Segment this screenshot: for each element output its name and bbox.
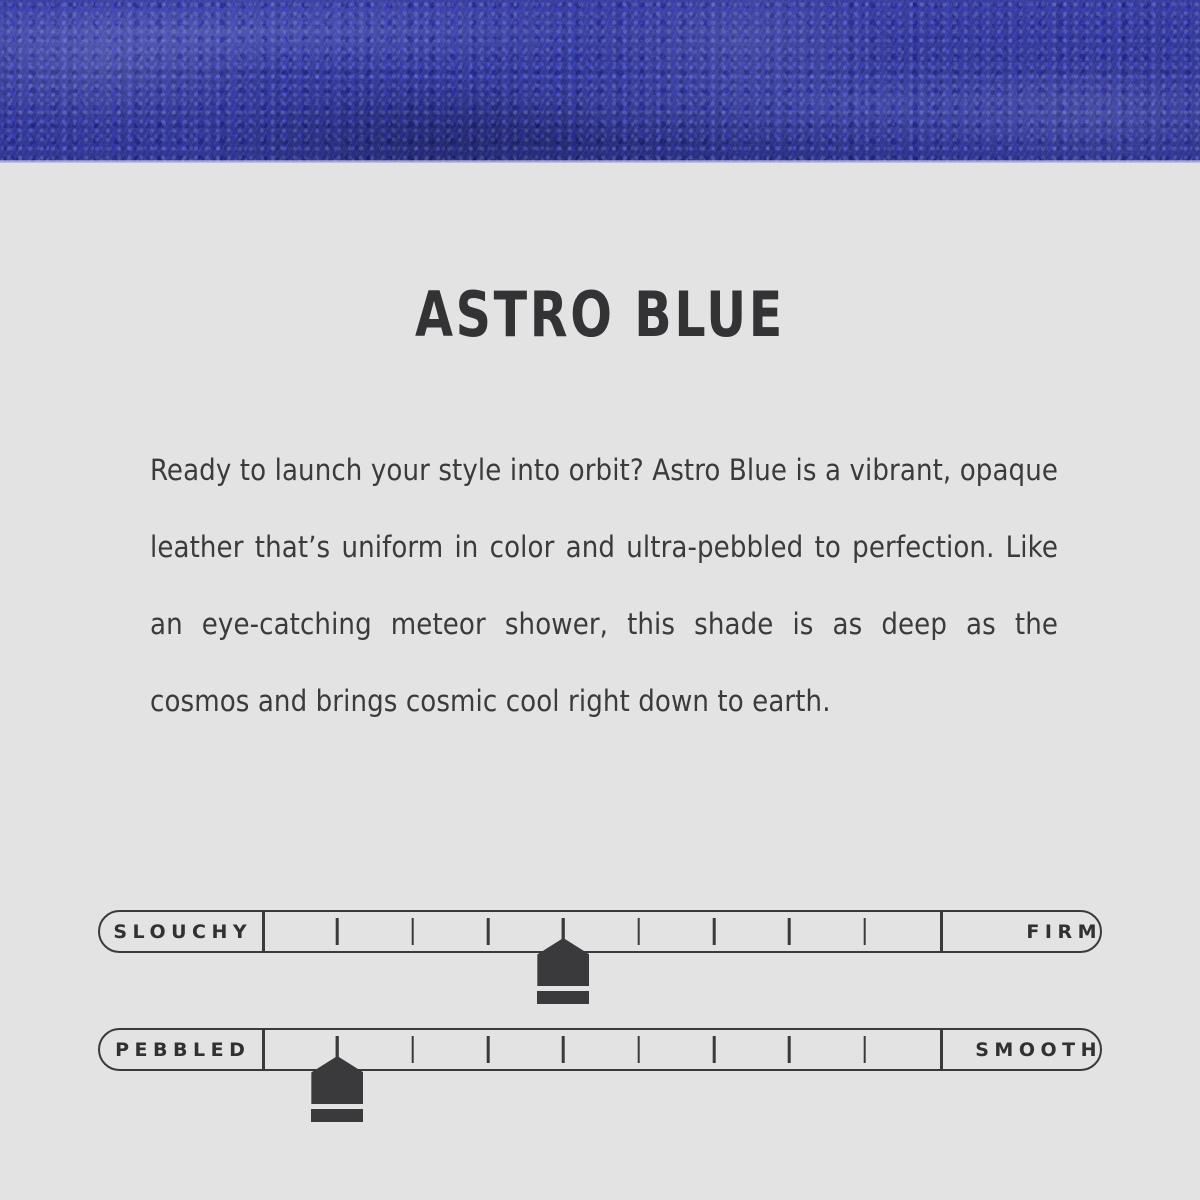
description-paragraph: Ready to launch your style into orbit? A… — [150, 432, 1058, 740]
scale-tick — [788, 918, 791, 945]
scale-texture-track[interactable] — [262, 1028, 940, 1071]
scale-tick — [336, 918, 339, 945]
scale-tick — [637, 918, 640, 945]
attribute-scales: SLOUCHY FIRM PEBBLED SMOOTH — [0, 900, 1200, 1136]
scale-tick — [637, 1036, 640, 1063]
scale-tick — [713, 918, 716, 945]
scale-texture-right-divider — [940, 1028, 943, 1071]
leather-swatch-card: ASTRO BLUE Ready to launch your style in… — [0, 0, 1200, 1200]
scale-tick — [713, 1036, 716, 1063]
scale-marker-bar — [311, 1109, 363, 1122]
scale-tick — [411, 918, 414, 945]
scale-tick — [562, 1036, 565, 1063]
leather-sheen-layer — [0, 0, 1200, 163]
scale-tick — [487, 918, 490, 945]
leather-swatch-image — [0, 0, 1200, 163]
scale-tick — [411, 1036, 414, 1063]
swatch-bottom-edge — [0, 160, 1200, 163]
scale-marker-bar — [537, 991, 589, 1004]
scale-tick — [863, 918, 866, 945]
scale-structure-right-divider — [940, 910, 943, 953]
scale-structure: SLOUCHY FIRM — [0, 900, 1200, 1018]
scale-texture: PEBBLED SMOOTH — [0, 1018, 1200, 1136]
page-title: ASTRO BLUE — [72, 278, 1128, 351]
scale-structure-track[interactable] — [262, 910, 940, 953]
scale-marker-head — [537, 938, 589, 986]
scale-tick — [863, 1036, 866, 1063]
scale-tick — [788, 1036, 791, 1063]
scale-marker-stem — [562, 918, 565, 940]
scale-tick — [487, 1036, 490, 1063]
scale-marker-stem — [336, 1036, 339, 1058]
scale-marker-head — [311, 1056, 363, 1104]
